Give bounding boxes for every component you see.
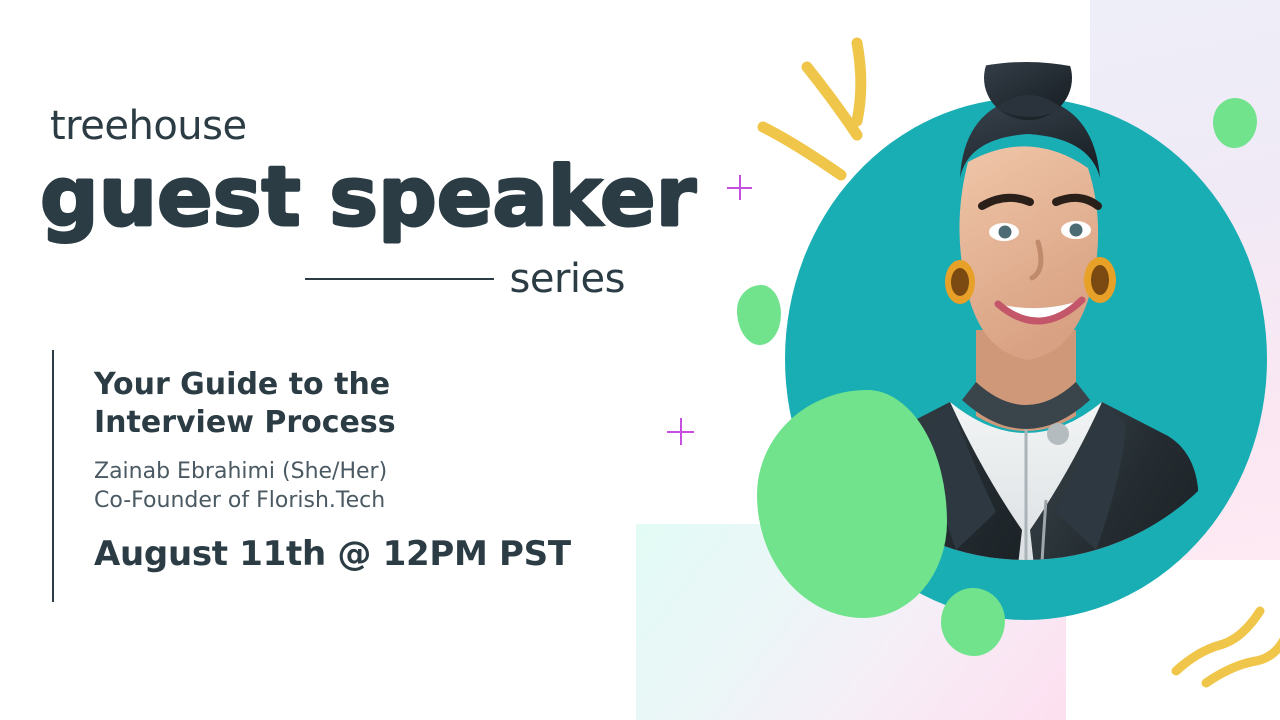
series-row: series bbox=[305, 255, 625, 303]
plus-mark-icon bbox=[727, 175, 752, 200]
plus-mark-icon bbox=[667, 418, 694, 445]
headline-guest-speaker: guest speaker bbox=[40, 157, 696, 239]
promo-slide: treehouse guest speaker series Your Guid… bbox=[0, 0, 1280, 720]
green-blob-mid-left bbox=[737, 285, 781, 345]
event-datetime: August 11th @ 12PM PST bbox=[94, 534, 571, 574]
treehouse-wordmark: treehouse bbox=[50, 106, 247, 146]
talk-info-block: Your Guide to the Interview Process Zain… bbox=[52, 350, 571, 602]
speaker-name: Zainab Ebrahimi (She/Her) bbox=[94, 457, 571, 487]
talk-title: Your Guide to the Interview Process bbox=[94, 366, 571, 443]
series-label: series bbox=[510, 259, 625, 299]
green-blob-small-bottom bbox=[941, 588, 1005, 656]
series-divider-rule bbox=[305, 278, 494, 280]
speaker-role: Co-Founder of Florish.Tech bbox=[94, 486, 571, 516]
text-column: treehouse guest speaker series Your Guid… bbox=[0, 0, 660, 720]
yellow-squiggles-decoration bbox=[1170, 595, 1280, 709]
